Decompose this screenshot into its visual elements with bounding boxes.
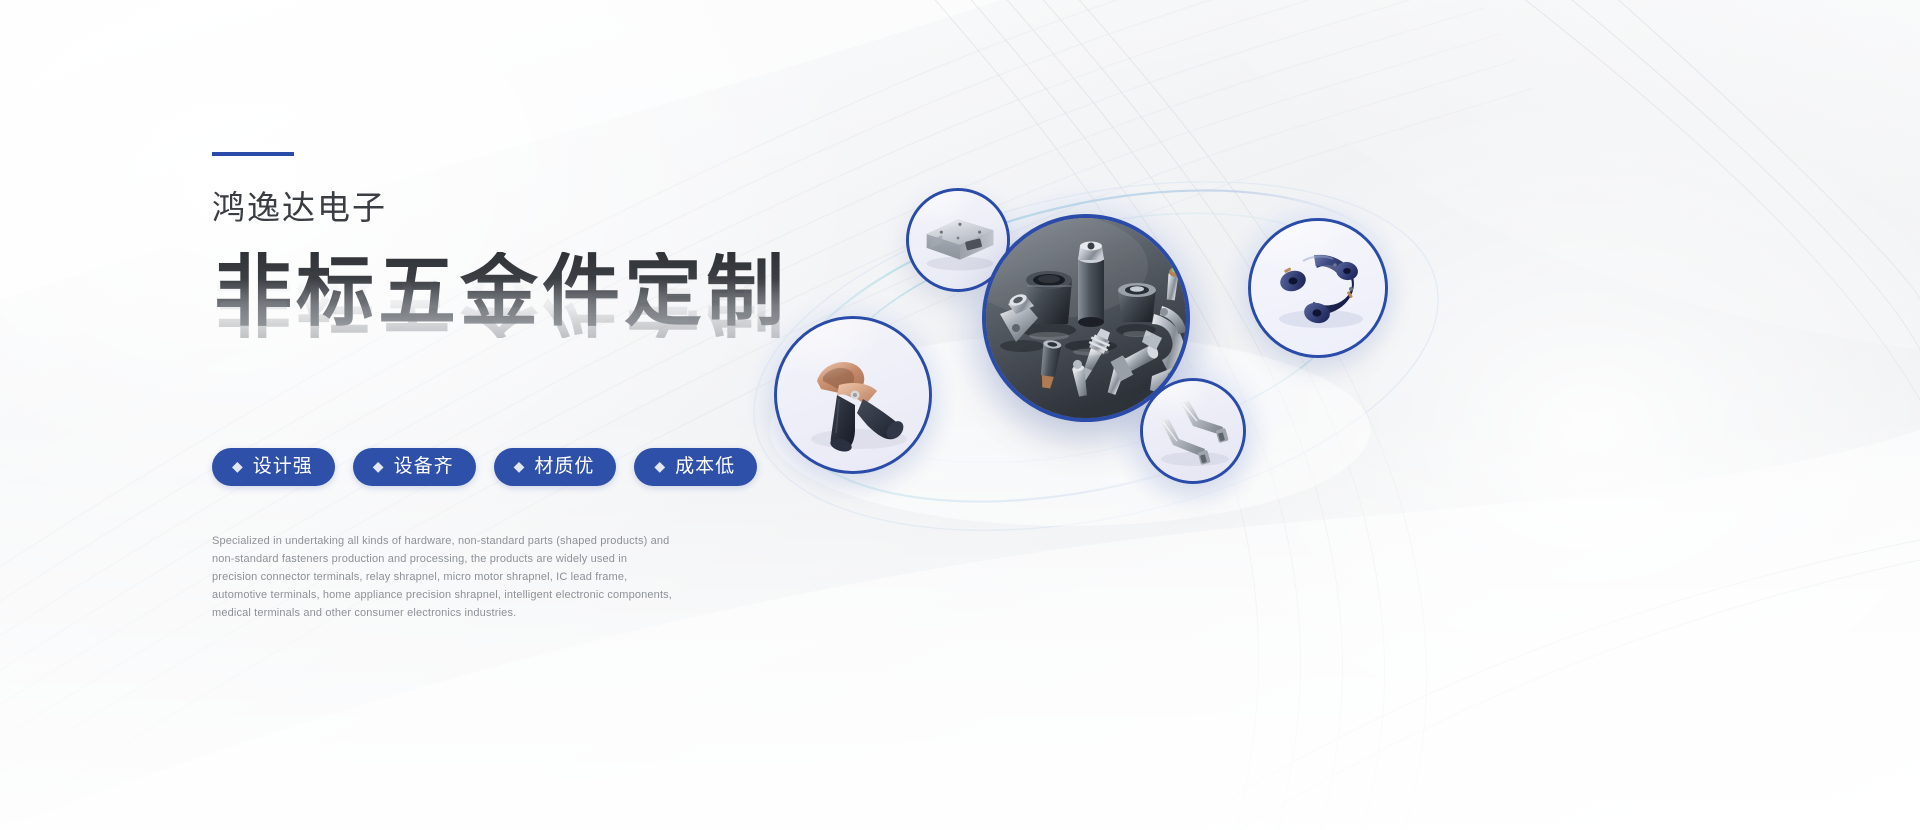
diamond-icon: ◆ [514,459,526,473]
gallery-item-copper-alligator-clip[interactable] [774,316,932,474]
copper-alligator-clip-icon [777,319,929,471]
feature-badge-list: ◆ 设计强 ◆ 设备齐 ◆ 材质优 ◆ 成本低 [212,448,832,486]
feature-badge-label: 设计强 [253,457,313,476]
blue-retaining-ring-icon [1251,221,1385,355]
diamond-icon: ◆ [373,459,385,473]
hero-description: Specialized in undertaking all kinds of … [212,533,674,623]
feature-badge-label: 成本低 [675,457,735,476]
gallery-item-blue-retaining-ring[interactable] [1248,218,1388,358]
diamond-icon: ◆ [232,459,244,473]
product-gallery [740,130,1460,560]
hero-banner: 鸿逸达电子 非标五金件定制 非标五金件定制 ◆ 设计强 ◆ 设备齐 ◆ 材质优 … [0,0,1920,830]
feature-badge-design[interactable]: ◆ 设计强 [212,448,335,486]
accent-bar [212,152,294,156]
hero-copy: 鸿逸达电子 非标五金件定制 非标五金件定制 ◆ 设计强 ◆ 设备齐 ◆ 材质优 … [212,152,832,634]
diamond-icon: ◆ [654,459,666,473]
bent-terminal-pins-icon [1143,381,1243,481]
gallery-item-bent-terminal-pins[interactable] [1140,378,1246,484]
feature-badge-label: 材质优 [534,457,594,476]
feature-badge-cost[interactable]: ◆ 成本低 [634,448,757,486]
feature-badge-equipment[interactable]: ◆ 设备齐 [353,448,476,486]
feature-badge-label: 设备齐 [394,457,454,476]
brand-name: 鸿逸达电子 [212,190,832,226]
feature-badge-material[interactable]: ◆ 材质优 [494,448,617,486]
